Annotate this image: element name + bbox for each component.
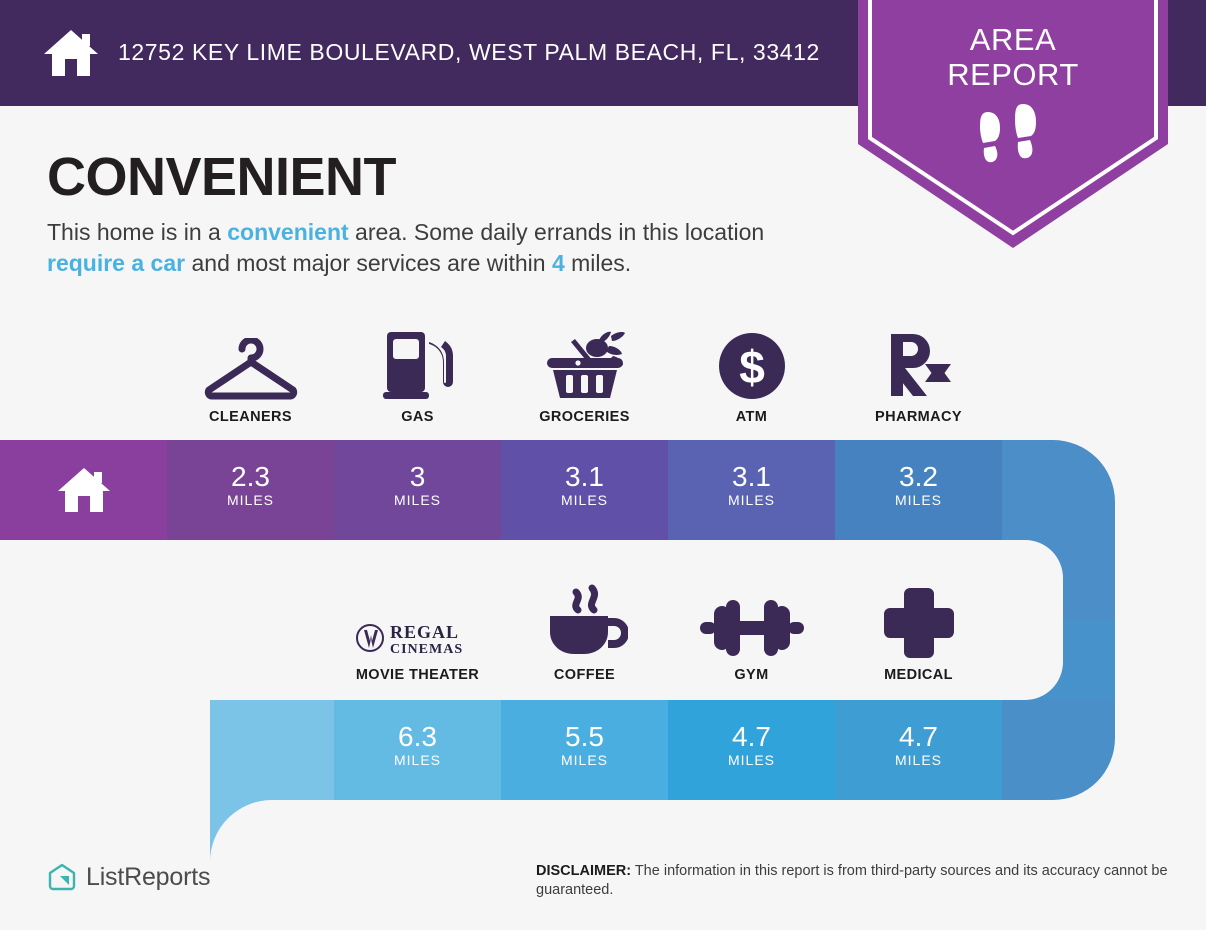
distance-value: 3.1 xyxy=(501,462,668,492)
infographic-canvas: 12752 KEY LIME BOULEVARD, WEST PALM BEAC… xyxy=(0,0,1206,930)
summary-highlight-3: 4 xyxy=(552,250,565,276)
distance-value: 3.2 xyxy=(835,462,1002,492)
distance-value: 3.1 xyxy=(668,462,835,492)
page-title: CONVENIENT xyxy=(47,146,396,208)
service-label: PHARMACY xyxy=(835,409,1002,425)
segment-lead-bottom-fill xyxy=(210,700,334,800)
segment-home xyxy=(0,440,167,540)
disclaimer-label: DISCLAIMER: xyxy=(536,863,631,879)
rx-icon xyxy=(835,328,1002,400)
distance-unit: MILES xyxy=(167,492,334,508)
home-icon xyxy=(42,28,100,78)
service-label: CLEANERS xyxy=(167,409,334,425)
service-label: GROCERIES xyxy=(501,409,668,425)
footprints-icon xyxy=(976,102,1050,166)
segment-atm: 3.1 MILES xyxy=(668,440,835,540)
hanger-icon xyxy=(167,328,334,400)
grocery-basket-icon xyxy=(501,328,668,400)
badge-line-2: REPORT xyxy=(858,57,1168,92)
segment-pharmacy: 3.2 MILES xyxy=(835,440,1002,540)
service-label: ATM xyxy=(668,409,835,425)
summary-part-4: miles. xyxy=(565,250,631,276)
segment-movie-theater: 6.3 MILES xyxy=(334,700,501,800)
distance-ribbon: 2.3 MILES 3 MILES 3.1 MILES 3.1 MILES 3. xyxy=(0,440,1206,930)
distance-unit: MILES xyxy=(334,492,501,508)
disclaimer: DISCLAIMER: The information in this repo… xyxy=(536,862,1176,900)
segment-descender-fill xyxy=(210,800,334,930)
service-icons-row-1: CLEANERS GAS xyxy=(0,328,1206,438)
distance-unit: MILES xyxy=(668,752,835,768)
brand-name: ListReports xyxy=(86,863,210,892)
summary-part-3: and most major services are within xyxy=(185,250,552,276)
segment-turn-bottom-fill xyxy=(1002,700,1206,800)
summary-highlight-2: require a car xyxy=(47,250,185,276)
distance-value: 5.5 xyxy=(501,722,668,752)
distance-unit: MILES xyxy=(501,492,668,508)
distance-value: 6.3 xyxy=(334,722,501,752)
area-report-badge: AREA REPORT xyxy=(858,0,1168,248)
distance-value: 4.7 xyxy=(835,722,1002,752)
badge-title: AREA REPORT xyxy=(858,22,1168,92)
dollar-circle-icon: $ xyxy=(668,328,835,400)
listreports-house-icon xyxy=(47,862,77,892)
service-label: GAS xyxy=(334,409,501,425)
service-atm: $ ATM xyxy=(668,328,835,425)
badge-line-1: AREA xyxy=(858,22,1168,57)
summary-part-1: This home is in a xyxy=(47,219,227,245)
home-icon xyxy=(56,466,112,514)
distance-unit: MILES xyxy=(334,752,501,768)
segment-turn-top-fill xyxy=(1002,440,1206,540)
distance-value: 4.7 xyxy=(668,722,835,752)
distance-unit: MILES xyxy=(835,752,1002,768)
segment-coffee: 5.5 MILES xyxy=(501,700,668,800)
service-groceries: GROCERIES xyxy=(501,328,668,425)
distance-unit: MILES xyxy=(835,492,1002,508)
svg-text:$: $ xyxy=(739,341,765,393)
summary-text: This home is in a convenient area. Some … xyxy=(47,217,847,279)
segment-cleaners: 2.3 MILES xyxy=(167,440,334,540)
distance-unit: MILES xyxy=(501,752,668,768)
distance-unit: MILES xyxy=(668,492,835,508)
segment-medical: 4.7 MILES xyxy=(835,700,1002,800)
service-pharmacy: PHARMACY xyxy=(835,328,1002,425)
segment-gas: 3 MILES xyxy=(334,440,501,540)
disclaimer-text: The information in this report is from t… xyxy=(536,863,1168,898)
distance-value: 3 xyxy=(334,462,501,492)
service-gas: GAS xyxy=(334,328,501,425)
property-address: 12752 KEY LIME BOULEVARD, WEST PALM BEAC… xyxy=(118,39,820,66)
service-cleaners: CLEANERS xyxy=(167,328,334,425)
summary-highlight-1: convenient xyxy=(227,219,348,245)
gas-pump-icon xyxy=(334,328,501,400)
segment-groceries: 3.1 MILES xyxy=(501,440,668,540)
summary-part-2: area. Some daily errands in this locatio… xyxy=(349,219,765,245)
distance-value: 2.3 xyxy=(167,462,334,492)
segment-gym: 4.7 MILES xyxy=(668,700,835,800)
brand-logo: ListReports xyxy=(47,862,210,892)
